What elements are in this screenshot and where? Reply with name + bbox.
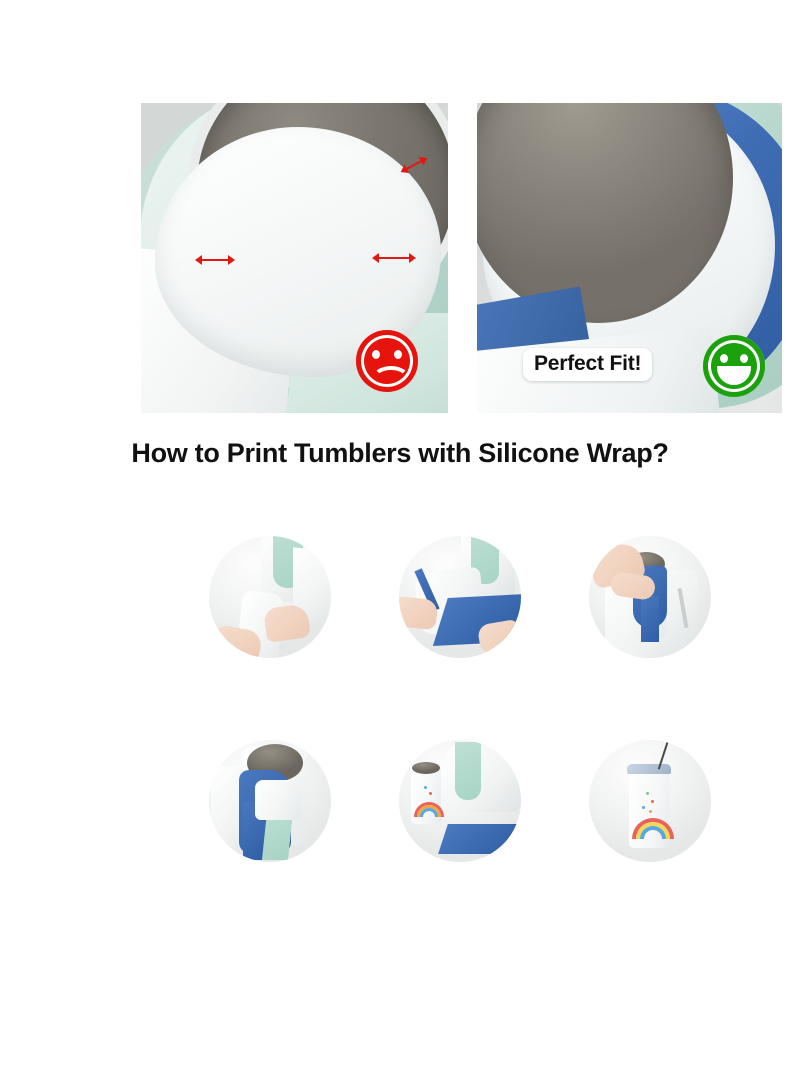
step-photo-5	[399, 740, 521, 862]
page-title: How to Print Tumblers with Silicone Wrap…	[0, 438, 800, 469]
step-photo-1	[209, 536, 331, 658]
perfect-fit-badge: Perfect Fit!	[523, 348, 652, 381]
comparison-row: Perfect Fit!	[0, 103, 800, 413]
step-photo-2	[399, 536, 521, 658]
step-photo-4	[209, 740, 331, 862]
perfect-fit-panel: Perfect Fit!	[477, 103, 782, 413]
sad-face-icon	[356, 330, 418, 392]
steps-grid	[0, 512, 800, 912]
infographic-canvas: Perfect Fit! How to Print Tumblers with …	[0, 0, 800, 1090]
happy-face-icon	[703, 335, 765, 397]
step-photo-6	[589, 740, 711, 862]
step-photo-3	[589, 536, 711, 658]
loose-fit-panel	[141, 103, 448, 413]
